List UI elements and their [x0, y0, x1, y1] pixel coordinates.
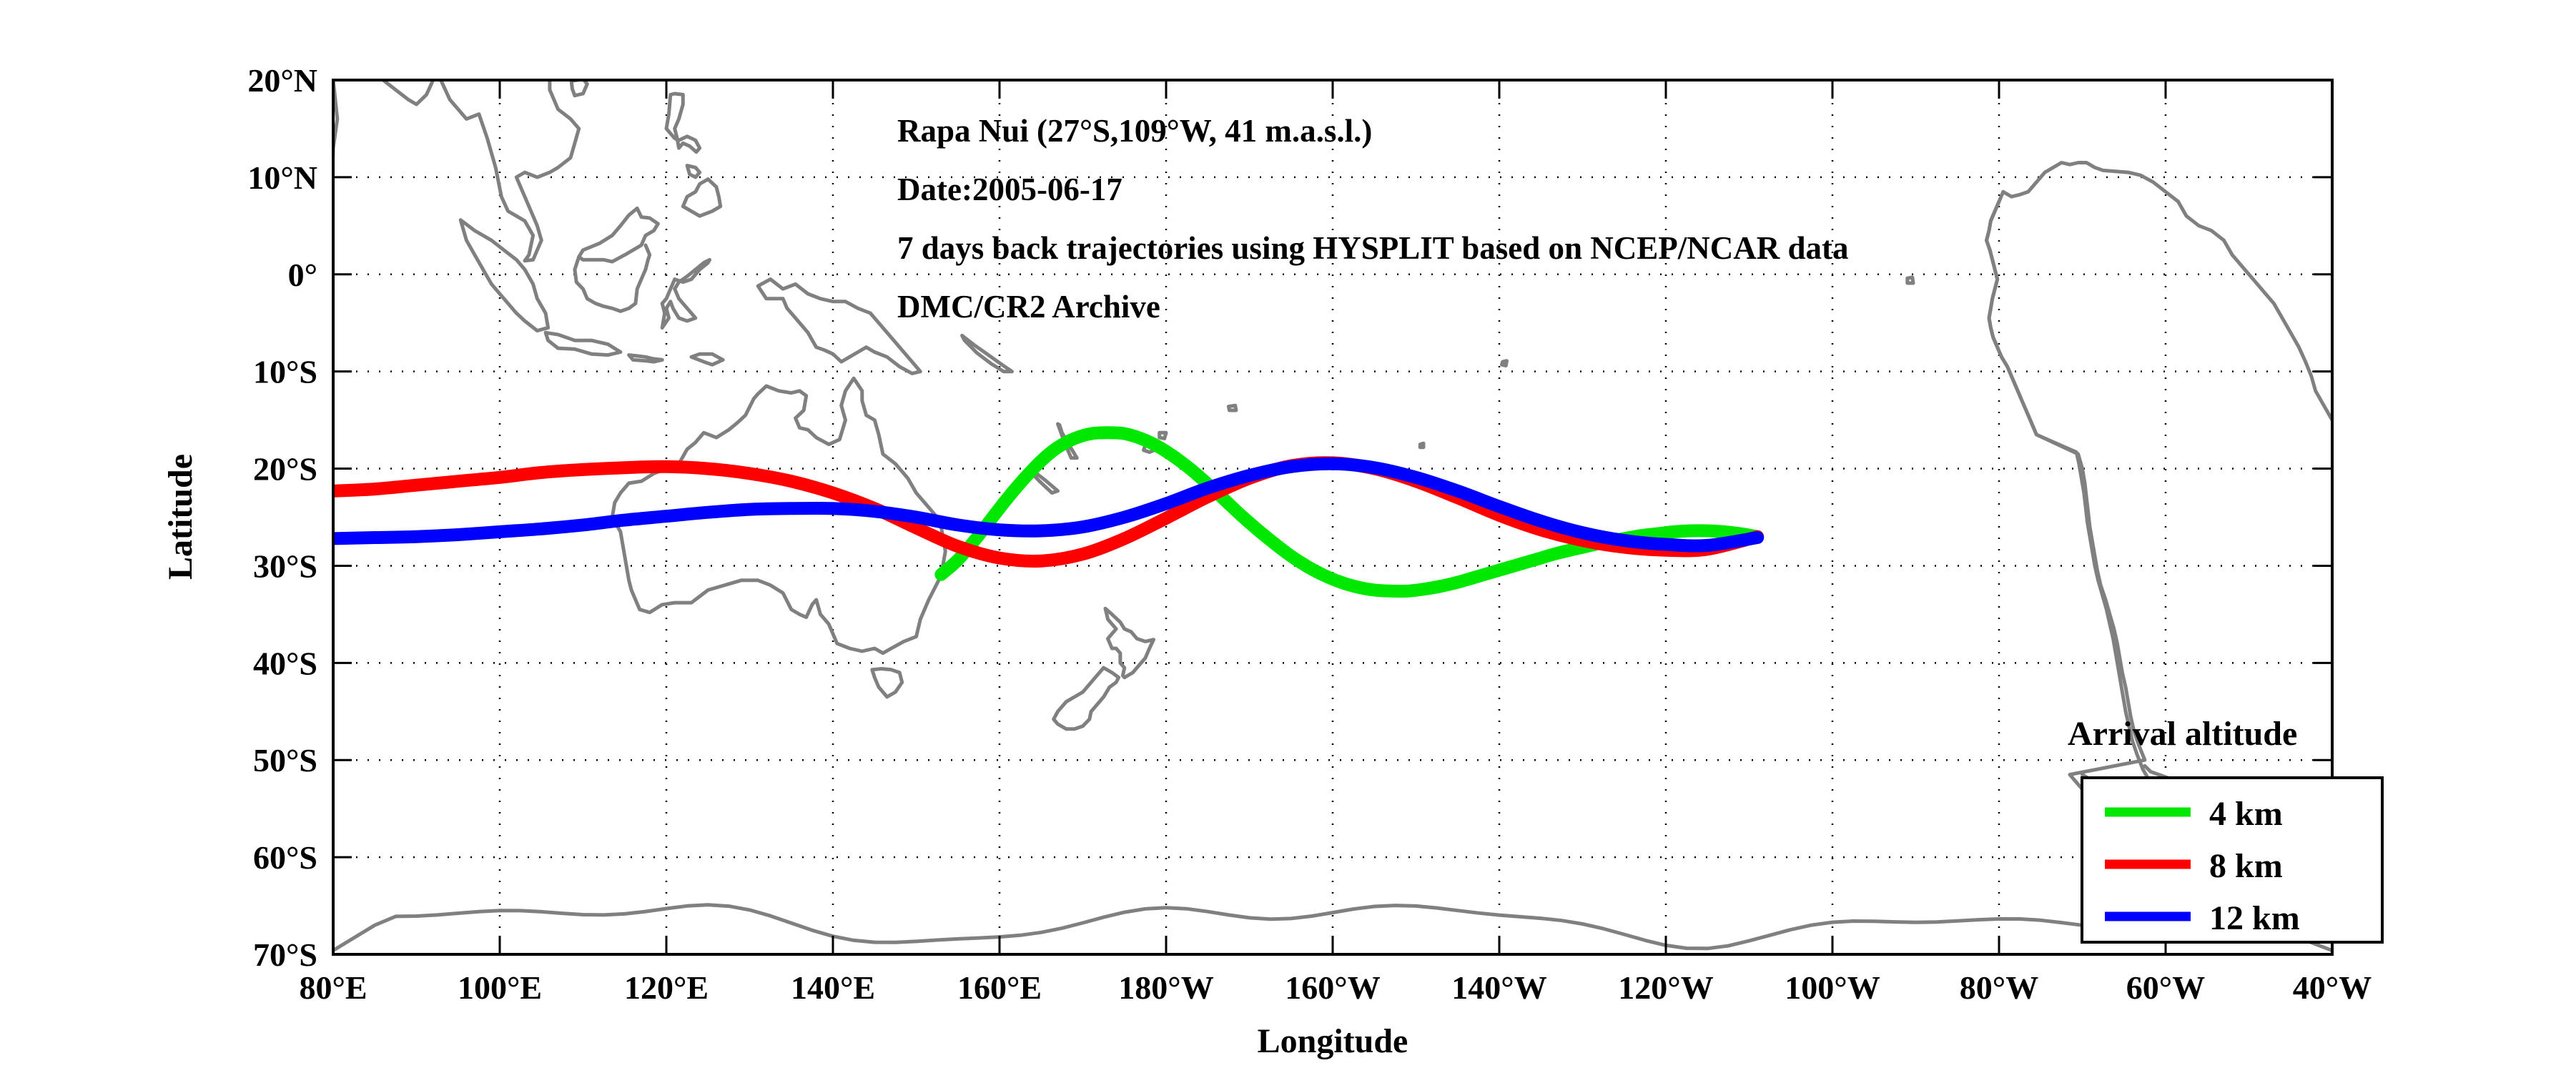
y-tick-label: 60°S	[253, 839, 317, 876]
trajectory-figure: 80°E100°E120°E140°E160°E180°W160°W140°W1…	[0, 0, 2576, 1073]
x-tick-label: 140°W	[1451, 969, 1546, 1006]
legend-label-4-km: 4 km	[2209, 795, 2283, 833]
legend-label-12-km: 12 km	[2209, 899, 2300, 937]
legend-title: Arrival altitude	[2068, 715, 2297, 753]
x-tick-label: 100°W	[1785, 969, 1880, 1006]
y-tick-label: 0°	[288, 257, 317, 293]
annotation-line-2: Date:2005-06-17	[897, 172, 1122, 207]
annotation-line-1: Rapa Nui (27°S,109°W, 41 m.a.s.l.)	[897, 113, 1372, 149]
coastline-path	[1502, 361, 1507, 366]
y-tick-label: 10°N	[247, 159, 317, 196]
annotation-line-4: DMC/CR2 Archive	[897, 289, 1160, 325]
x-tick-label: 100°E	[458, 969, 542, 1006]
x-tick-label: 120°E	[624, 969, 709, 1006]
y-tick-label: 20°N	[247, 62, 317, 99]
y-axis-title: Latitude	[162, 454, 199, 580]
y-tick-label: 30°S	[253, 548, 317, 584]
legend-label-8-km: 8 km	[2209, 847, 2283, 885]
annotation-line-3: 7 days back trajectories using HYSPLIT b…	[897, 230, 1849, 266]
y-tick-label: 20°S	[253, 451, 317, 488]
x-tick-label: 80°E	[299, 969, 367, 1006]
x-tick-label: 160°W	[1285, 969, 1380, 1006]
x-tick-label: 120°W	[1618, 969, 1713, 1006]
legend-box[interactable]: 4 km8 km12 km	[2082, 778, 2382, 942]
x-tick-label: 140°E	[791, 969, 875, 1006]
x-tick-label: 160°E	[957, 969, 1042, 1006]
x-axis-title: Longitude	[1258, 1022, 1408, 1060]
x-tick-label: 80°W	[1960, 969, 2038, 1006]
y-tick-label: 70°S	[253, 936, 317, 973]
map-plot-svg: 80°E100°E120°E140°E160°E180°W160°W140°W1…	[0, 0, 2576, 1073]
coastline-path	[1420, 443, 1423, 448]
y-tick-label: 40°S	[253, 645, 317, 681]
x-tick-label: 40°W	[2293, 969, 2372, 1006]
y-tick-label: 10°S	[253, 354, 317, 390]
x-tick-label: 180°W	[1118, 969, 1213, 1006]
y-tick-label: 50°S	[253, 742, 317, 778]
x-tick-label: 60°W	[2126, 969, 2205, 1006]
